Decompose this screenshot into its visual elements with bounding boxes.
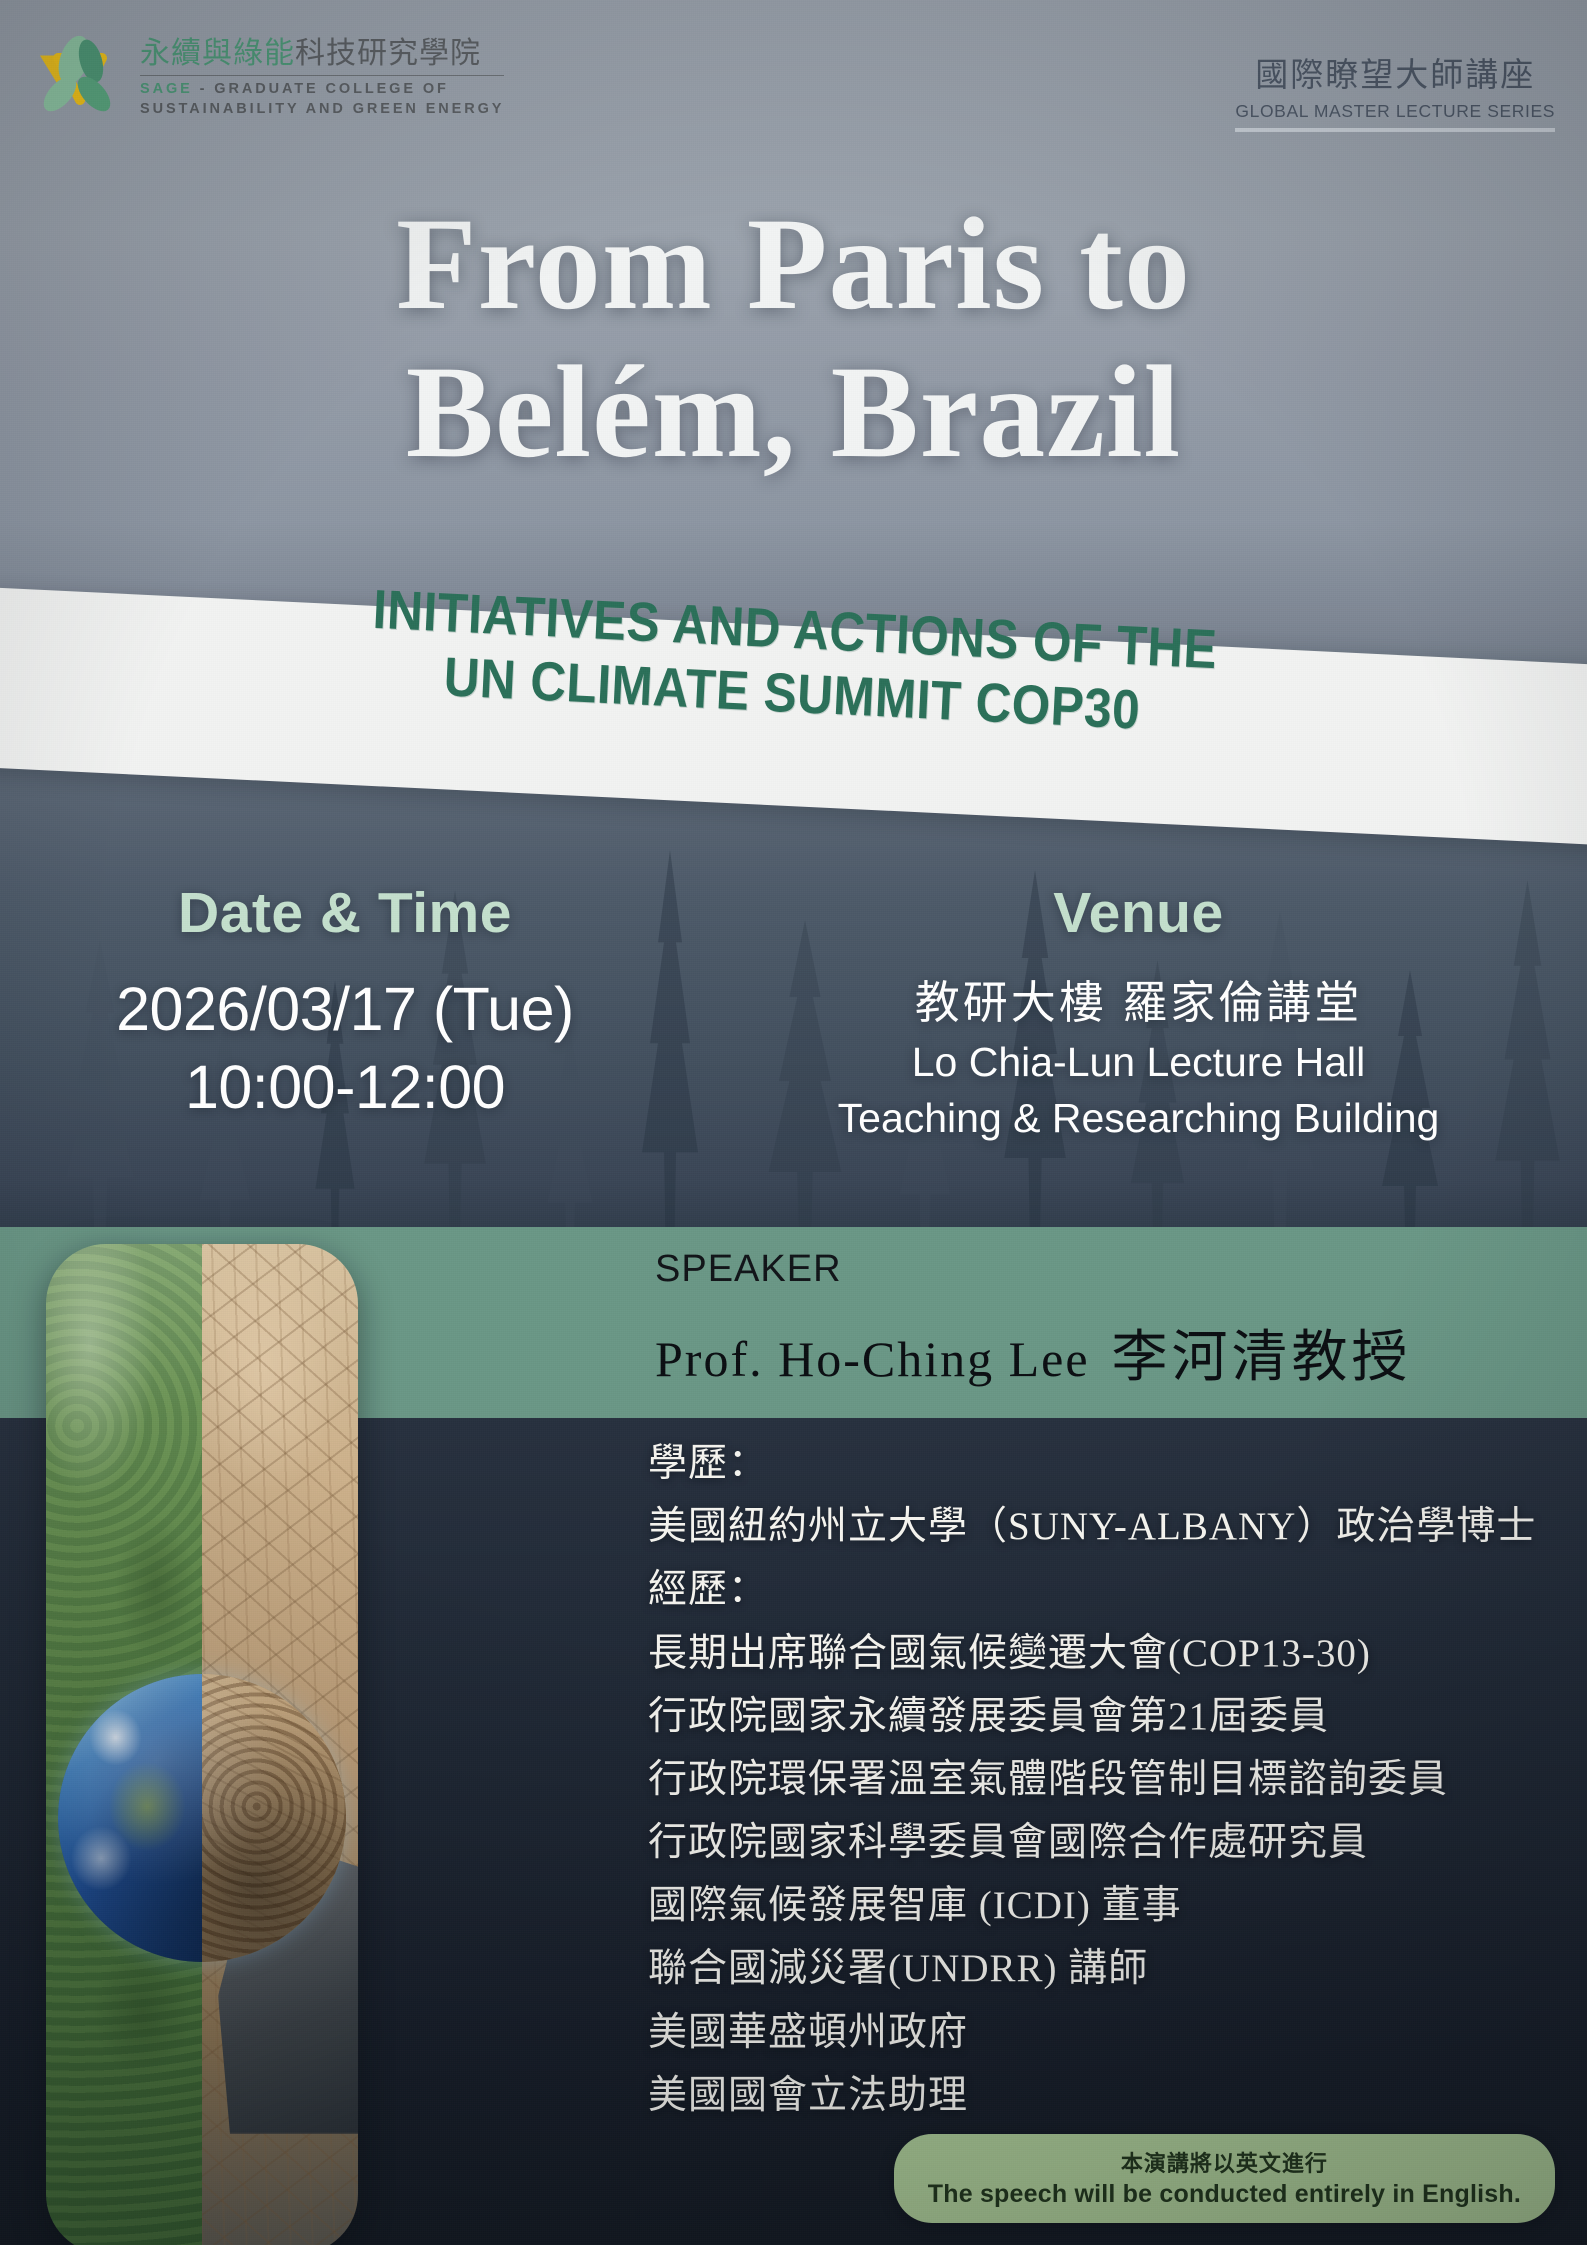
bio-line: 學歷：: [648, 1432, 1548, 1495]
date-time-block: Date & Time 2026/03/17 (Tue) 10:00-12:00: [0, 880, 690, 1126]
bio-line: 美國紐約州立大學（SUNY-ALBANY）政治學博士: [648, 1495, 1548, 1558]
bio-line: 行政院國家永續發展委員會第21屆委員: [648, 1685, 1548, 1748]
speaker-name-english: Prof. Ho-Ching Lee: [655, 1331, 1090, 1387]
series-title-chinese: 國際瞭望大師講座: [1235, 48, 1555, 96]
logo-divider: [140, 75, 504, 77]
bio-line: 長期出席聯合國氣候變遷大會(COP13-30): [648, 1622, 1548, 1685]
lecture-series-lockup: 國際瞭望大師講座 GLOBAL MASTER LECTURE SERIES: [1235, 48, 1555, 132]
language-notice-badge: 本演講將以英文進行 The speech will be conducted e…: [894, 2134, 1555, 2223]
venue-building-english: Teaching & Researching Building: [710, 1092, 1567, 1144]
event-time: 10:00-12:00: [20, 1048, 670, 1126]
venue-body: 教研大樓 羅家倫講堂 Lo Chia-Lun Lecture Hall Teac…: [710, 974, 1567, 1145]
date-time-heading: Date & Time: [20, 880, 670, 946]
bio-line: 國際氣候發展智庫 (ICDI) 董事: [648, 1874, 1548, 1937]
language-notice-english: The speech will be conducted entirely in…: [928, 2180, 1521, 2209]
speaker-name: Prof. Ho-Ching Lee李河清教授: [655, 1312, 1412, 1393]
sage-logo-cn-green: 永續與綠能: [140, 37, 295, 70]
sage-leaf-chevron-icon: [34, 34, 126, 122]
speaker-name-chinese: 李河清教授: [1112, 1327, 1412, 1389]
speaker-biography: 學歷： 美國紐約州立大學（SUNY-ALBANY）政治學博士 經歷： 長期出席聯…: [648, 1432, 1548, 2127]
sage-subtitle-line2: SUSTAINABILITY AND GREEN ENERGY: [140, 100, 504, 120]
globe-icon: [58, 1674, 346, 1962]
venue-block: Venue 教研大樓 羅家倫講堂 Lo Chia-Lun Lecture Hal…: [690, 880, 1587, 1145]
sage-acronym: SAGE: [140, 81, 193, 97]
venue-name-chinese: 教研大樓 羅家倫講堂: [710, 974, 1567, 1032]
page-title: From Paris to Belém, Brazil: [0, 190, 1587, 486]
sage-logo[interactable]: 永續與綠能科技研究學院 SAGE - GRADUATE COLLEGE OF S…: [34, 34, 504, 122]
event-info: Date & Time 2026/03/17 (Tue) 10:00-12:00…: [0, 880, 1587, 1145]
bio-line: 行政院國家科學委員會國際合作處研究員: [648, 1811, 1548, 1874]
sage-logo-text: 永續與綠能科技研究學院 SAGE - GRADUATE COLLEGE OF S…: [140, 36, 504, 119]
event-date: 2026/03/17 (Tue): [20, 970, 670, 1048]
split-earth-forest-drought-image: [46, 1244, 358, 2245]
language-notice-chinese: 本演講將以英文進行: [928, 2146, 1521, 2178]
bio-line: 行政院環保署溫室氣體階段管制目標諮詢委員: [648, 1748, 1548, 1811]
bio-line: 經歷：: [648, 1558, 1548, 1621]
bio-line: 美國國會立法助理: [648, 2064, 1548, 2127]
sage-subtitle-line1: - GRADUATE COLLEGE OF: [200, 81, 449, 97]
title-line-2: Belém, Brazil: [0, 338, 1587, 486]
venue-hall-english: Lo Chia-Lun Lecture Hall: [710, 1036, 1567, 1088]
title-line-1: From Paris to: [396, 190, 1191, 337]
bio-line: 美國華盛頓州政府: [648, 2001, 1548, 2064]
sage-logo-cn-dark: 科技研究學院: [295, 37, 481, 70]
date-time-body: 2026/03/17 (Tue) 10:00-12:00: [20, 970, 670, 1126]
venue-heading: Venue: [710, 880, 1567, 946]
sage-logo-chinese: 永續與綠能科技研究學院: [140, 38, 504, 70]
globe-shading: [58, 1674, 346, 1962]
bio-line: 聯合國減災署(UNDRR) 講師: [648, 1937, 1548, 2000]
sage-logo-english: SAGE - GRADUATE COLLEGE OF SUSTAINABILIT…: [140, 80, 504, 119]
poster-root: 永續與綠能科技研究學院 SAGE - GRADUATE COLLEGE OF S…: [0, 0, 1587, 2245]
series-title-english: GLOBAL MASTER LECTURE SERIES: [1235, 101, 1555, 132]
speaker-label: SPEAKER: [655, 1248, 842, 1291]
